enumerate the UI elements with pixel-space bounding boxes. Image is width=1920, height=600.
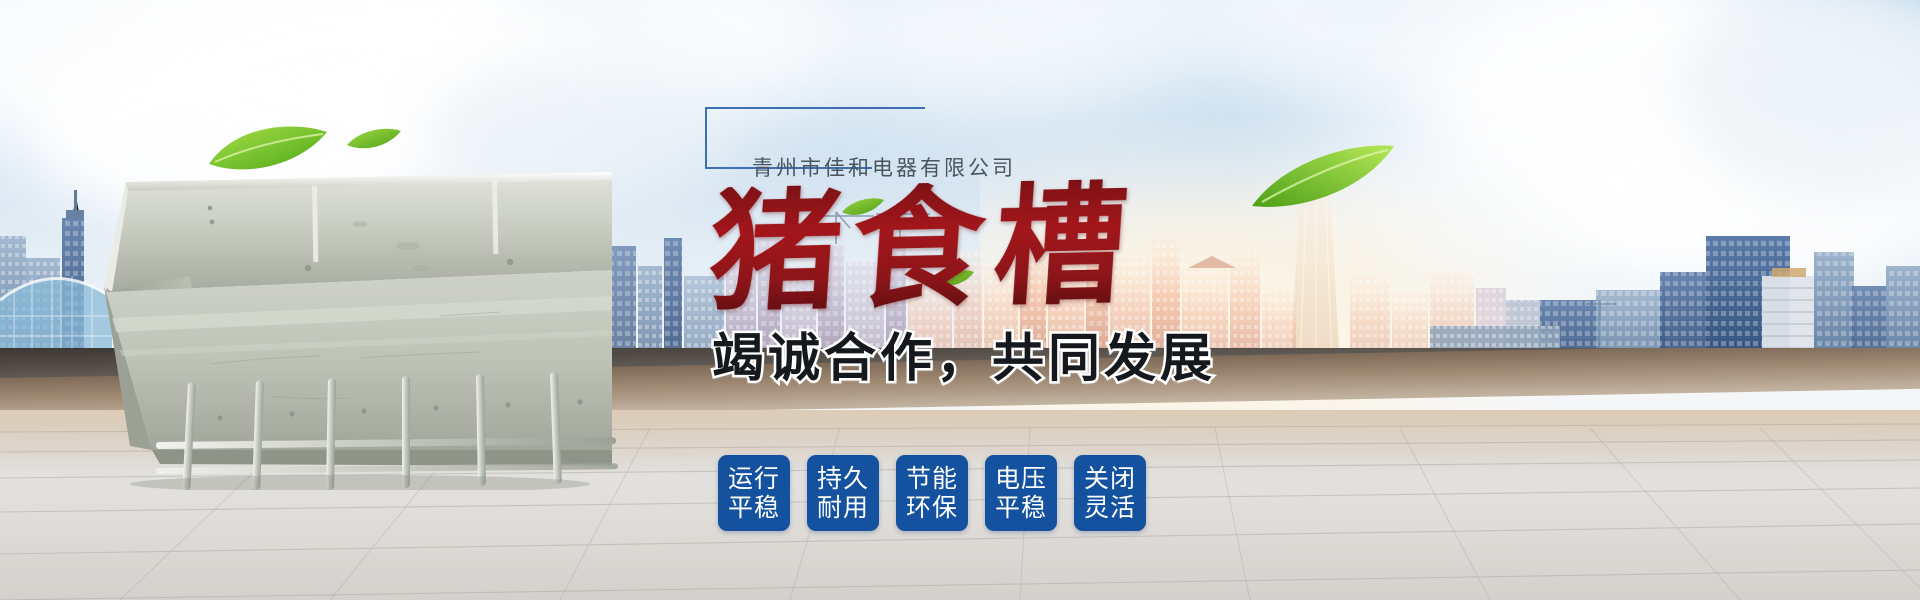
feature-badge-1[interactable]: 运行 平稳 xyxy=(718,455,790,531)
badge-line-1: 运行 xyxy=(728,464,780,494)
badge-line-1: 关闭 xyxy=(1084,464,1136,494)
badge-line-2: 平稳 xyxy=(728,493,780,523)
badge-line-2: 环保 xyxy=(906,493,958,523)
product-image-pig-feeder xyxy=(60,150,620,490)
promo-banner: 青州市佳和电器有限公司 猪食槽 竭诚合作，共同发展 运行 平稳 持久 耐用 节能… xyxy=(0,0,1920,600)
feature-badge-3[interactable]: 节能 环保 xyxy=(896,455,968,531)
badge-line-1: 节能 xyxy=(906,464,958,494)
badge-line-1: 持久 xyxy=(817,464,869,494)
badge-line-2: 耐用 xyxy=(817,493,869,523)
badge-line-2: 灵活 xyxy=(1084,493,1136,523)
feature-badge-2[interactable]: 持久 耐用 xyxy=(807,455,879,531)
feature-badge-list: 运行 平稳 持久 耐用 节能 环保 电压 平稳 关闭 灵活 xyxy=(718,455,1146,531)
headline-group: 青州市佳和电器有限公司 猪食槽 竭诚合作，共同发展 xyxy=(690,95,1250,455)
slogan-text: 竭诚合作，共同发展 xyxy=(712,333,1216,385)
feature-badge-4[interactable]: 电压 平稳 xyxy=(985,455,1057,531)
badge-line-2: 平稳 xyxy=(995,493,1047,523)
page-title: 猪食槽 xyxy=(705,179,1140,320)
feature-badge-5[interactable]: 关闭 灵活 xyxy=(1074,455,1146,531)
badge-line-1: 电压 xyxy=(995,464,1047,494)
